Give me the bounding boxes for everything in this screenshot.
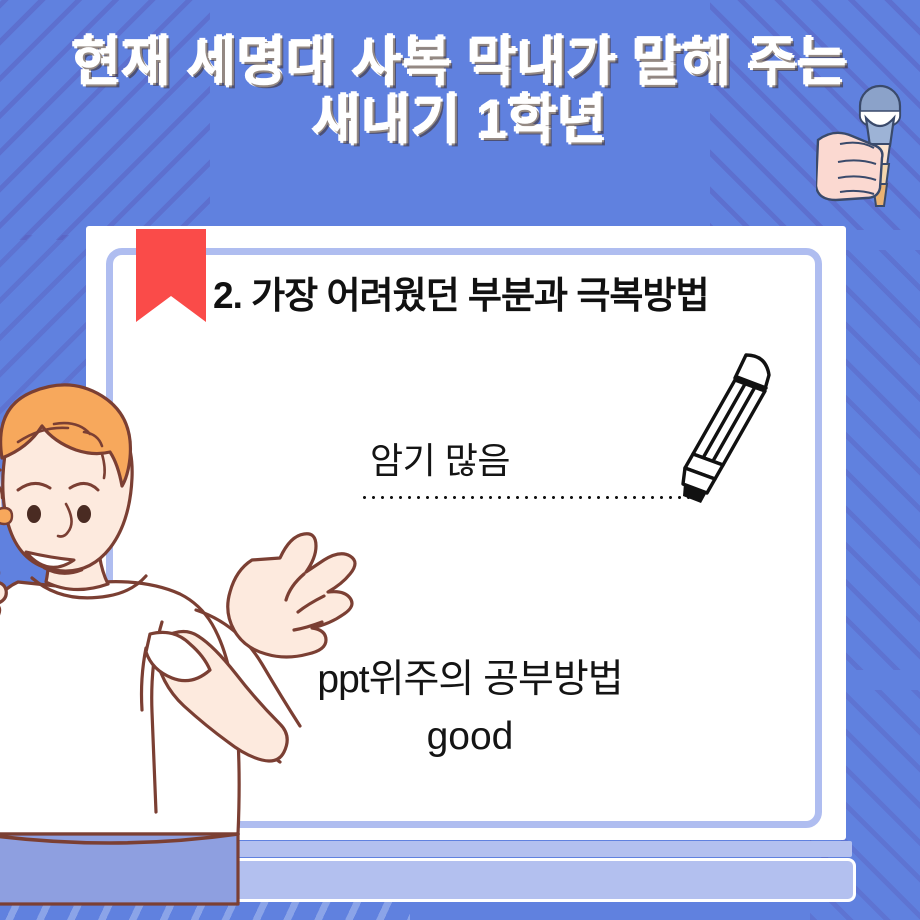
headline-line-2: 새내기 1학년 <box>0 92 920 150</box>
headline-line-1: 현재 세명대 사복 막내가 말해 주는 <box>72 33 847 92</box>
headline: 현재 세명대 사복 막내가 말해 주는 새내기 1학년 <box>0 34 920 151</box>
card-canvas: 현재 세명대 사복 막내가 말해 주는 새내기 1학년 2. 가장 어려웠던 부… <box>0 0 920 920</box>
student-character-illustration <box>0 372 428 920</box>
microphone-in-hand-icon <box>816 78 912 223</box>
pencil-icon <box>672 345 792 510</box>
board-heading: 2. 가장 어려웠던 부분과 극복방법 <box>213 265 813 319</box>
